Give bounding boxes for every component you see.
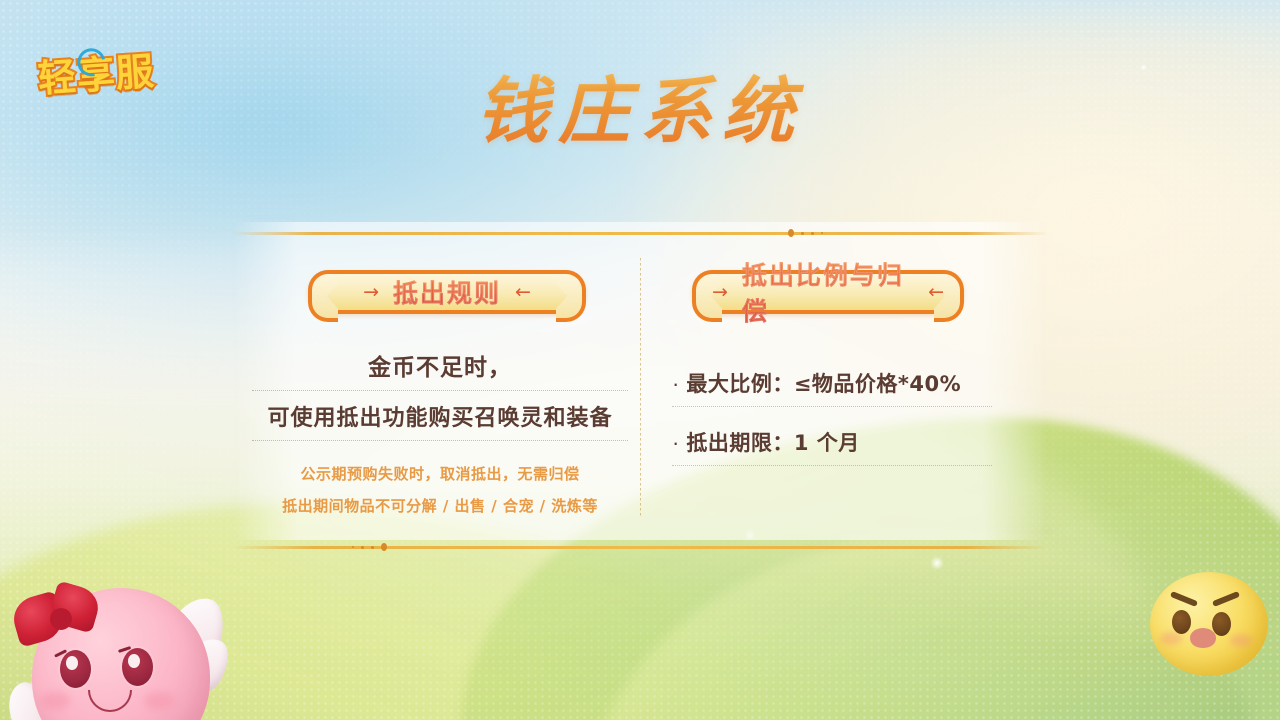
divider-top-ornament — [788, 229, 823, 237]
page-title: 钱庄系统 — [0, 52, 1280, 157]
mascot-eye — [1212, 612, 1231, 636]
red-bow-icon — [14, 586, 110, 648]
list-item: · 最大比例：≤物品价格*40% — [672, 368, 992, 407]
section-banner-ratio-label: 抵出比例与归偿 — [742, 256, 914, 328]
section-banner-rules-label: 抵出规则 — [393, 274, 501, 310]
mascot-cheek — [40, 692, 70, 710]
divider-top — [232, 232, 1048, 235]
rules-lead-line-2: 可使用抵出功能购买召唤灵和装备 — [252, 400, 628, 441]
slide-root: 轻享服 钱庄系统 → 抵出规则 ← 金币不足时， 可使用抵出功能购买召唤灵和装备… — [0, 0, 1280, 720]
rules-column: 金币不足时， 可使用抵出功能购买召唤灵和装备 公示期预购失败时，取消抵出，无需归… — [252, 348, 628, 527]
mascot-eye — [1172, 610, 1191, 634]
mascot-cheek — [1160, 632, 1182, 645]
yellow-slime-mascot — [1150, 572, 1268, 676]
arrow-left-icon: ← — [928, 283, 944, 302]
mascot-eye — [122, 648, 153, 686]
arrow-right-icon: → — [712, 283, 728, 302]
mascot-cheek — [144, 692, 174, 710]
mascot-mouth — [1190, 628, 1216, 648]
mascot-body — [1150, 572, 1268, 676]
rules-lead-line-1: 金币不足时， — [252, 348, 628, 391]
rules-note-2: 抵出期间物品不可分解 / 出售 / 合宠 / 洗炼等 — [252, 495, 628, 516]
section-banner-ratio: → 抵出比例与归偿 ← — [692, 270, 964, 314]
mascot-cheek — [1230, 634, 1252, 647]
list-item: · 抵出期限：1 个月 — [672, 427, 992, 466]
bullet-icon: · — [672, 373, 679, 395]
divider-bottom-ornament — [352, 543, 387, 551]
bullet-icon: · — [672, 432, 679, 454]
ratio-bullet-1-text: 最大比例：≤物品价格*40% — [686, 368, 961, 398]
arrow-left-icon: ← — [515, 283, 531, 302]
pink-slime-mascot — [18, 540, 238, 720]
mascot-eye — [60, 650, 91, 688]
ratio-bullet-2-text: 抵出期限：1 个月 — [686, 427, 859, 457]
ratio-column: · 最大比例：≤物品价格*40% · 抵出期限：1 个月 — [672, 368, 992, 486]
column-divider — [640, 258, 641, 516]
arrow-right-icon: → — [363, 283, 379, 302]
rules-note-1: 公示期预购失败时，取消抵出，无需归偿 — [252, 463, 628, 484]
section-banner-rules: → 抵出规则 ← — [308, 270, 586, 314]
